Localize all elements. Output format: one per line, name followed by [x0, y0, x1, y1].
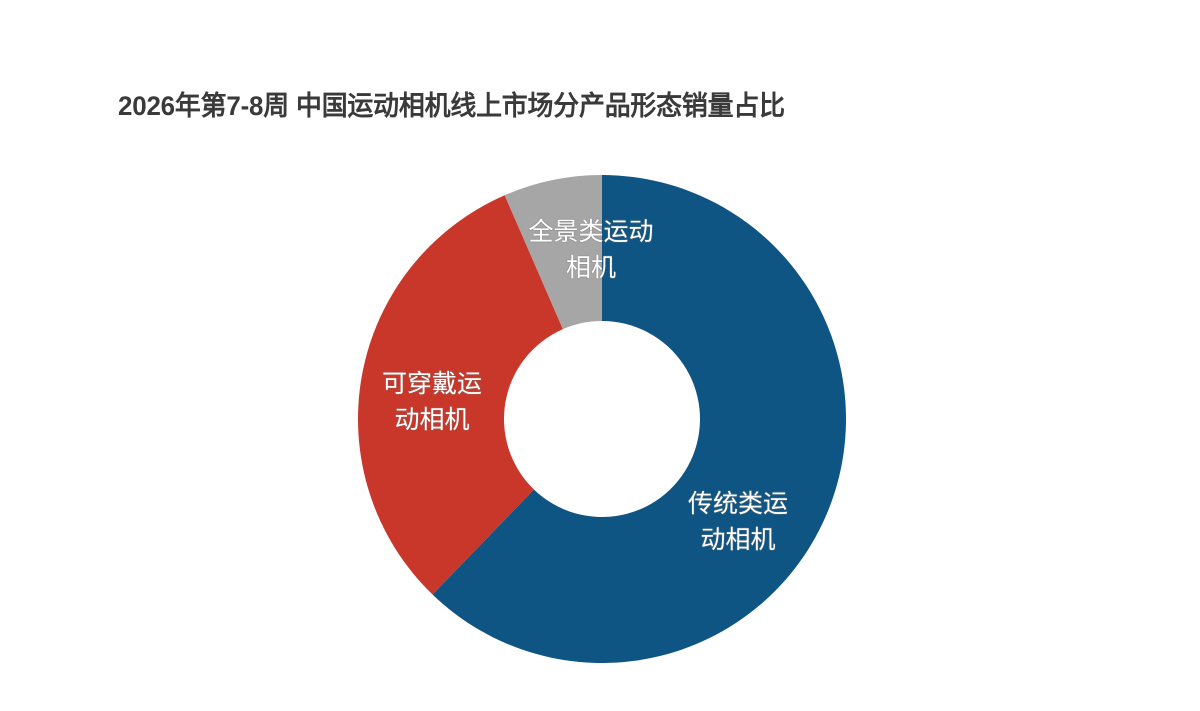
- donut-svg: [0, 0, 1200, 711]
- donut-chart: 全景类运动 相机 可穿戴运 动相机 传统类运 动相机: [0, 0, 1200, 711]
- chart-root: 2026年第7-8周 中国运动相机线上市场分产品形态销量占比 全景类运动 相机 …: [0, 0, 1200, 711]
- donut-slice-group: [358, 175, 846, 663]
